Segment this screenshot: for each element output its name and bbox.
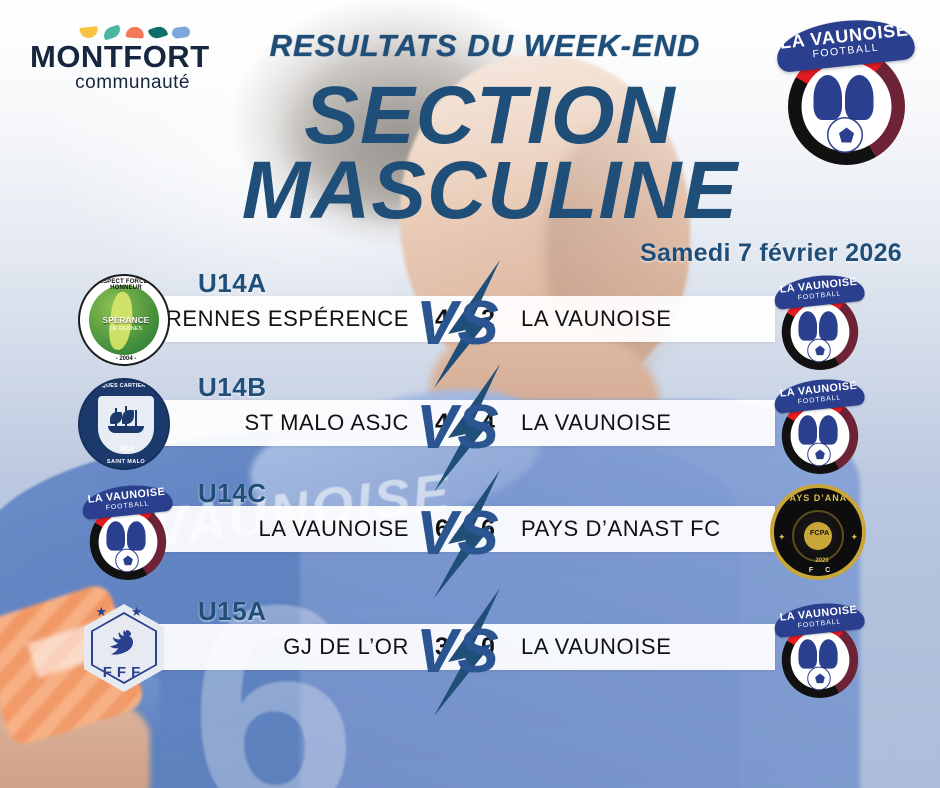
svg-text:VS: VS bbox=[416, 289, 499, 358]
esperance-logo-year: - 2004 - bbox=[80, 356, 170, 362]
anast-star-left-icon: ✦ bbox=[778, 532, 786, 543]
home-team-name: RENNES ESPÉRENCE bbox=[166, 306, 409, 332]
poster-title-line2: MASCULINE bbox=[230, 153, 750, 228]
fff-label: FFF bbox=[78, 664, 170, 681]
poster-subtitle: RESULTATS DU WEEK-END bbox=[255, 28, 715, 64]
logo-shape-coral bbox=[126, 26, 145, 38]
svg-text:VS: VS bbox=[416, 499, 499, 568]
logo-shape-yellow bbox=[79, 26, 98, 39]
la-vaunoise-logo: LA VAUNOISEFOOTBALL bbox=[770, 602, 868, 700]
result-row: ★ ★ FFF U15A GJ DE L’OR 3 0 LA VAUNOISE … bbox=[0, 596, 940, 708]
esperance-logo-sub: DE RENNES bbox=[80, 326, 170, 332]
category-label: U14C bbox=[198, 478, 266, 509]
la-vaunoise-logo: LA VAUNOISEFOOTBALL bbox=[78, 484, 170, 576]
montfort-communaute-logo: MONTFORT communauté bbox=[30, 25, 190, 92]
result-row: LA VAUNOISEFOOTBALL U14C LA VAUNOISE 6 6… bbox=[0, 478, 940, 590]
esperance-logo-top-text: RESPECT FORCE ET HONNEUR bbox=[80, 279, 170, 291]
category-label: U14A bbox=[198, 268, 266, 299]
home-team-name: LA VAUNOISE bbox=[259, 516, 409, 542]
esperance-logo-name: SPÉRANCE bbox=[80, 316, 170, 325]
anast-logo-center-text: FCPA bbox=[810, 530, 829, 537]
away-team-name: LA VAUNOISE bbox=[521, 306, 671, 332]
results-poster: 6 VAUNOISE MONTFORT communauté RESULTATS… bbox=[0, 0, 940, 788]
anast-logo-year: 2020 bbox=[774, 558, 866, 564]
fff-logo: ★ ★ FFF bbox=[78, 602, 170, 694]
esperance-rennes-logo: RESPECT FORCE ET HONNEUR SPÉRANCE DE REN… bbox=[78, 274, 170, 366]
crest-banner: LA VAUNOISE FOOTBALL bbox=[774, 14, 916, 73]
logo-shape-darkteal bbox=[148, 24, 169, 40]
away-team-name: LA VAUNOISE bbox=[521, 634, 671, 660]
svg-text:VS: VS bbox=[416, 617, 499, 686]
vs-icon: VS bbox=[408, 470, 532, 598]
club-crest-header: LA VAUNOISE FOOTBALL bbox=[770, 18, 920, 168]
logo-shape-blue bbox=[171, 25, 190, 38]
home-team-name: ST MALO ASJC bbox=[244, 410, 409, 436]
svg-text:VS: VS bbox=[416, 393, 499, 462]
logo-shape-teal bbox=[102, 24, 123, 40]
fff-stars-icon: ★ ★ bbox=[78, 604, 170, 620]
category-label: U15A bbox=[198, 596, 266, 627]
away-team-name: PAYS D’ANAST FC bbox=[521, 516, 721, 542]
la-vaunoise-logo: LA VAUNOISEFOOTBALL bbox=[770, 274, 868, 372]
montfort-logo-sub: communauté bbox=[30, 73, 190, 92]
away-team-name: LA VAUNOISE bbox=[521, 410, 671, 436]
category-label: U14B bbox=[198, 372, 266, 403]
asjc-logo-top-text: AS JACQUES CARTIER PARAME bbox=[80, 383, 170, 389]
montfort-logo-shapes bbox=[80, 25, 190, 39]
rooster-icon bbox=[106, 628, 142, 658]
asjc-logo-city: SAINT MALO bbox=[80, 459, 170, 465]
poster-title: SECTION MASCULINE bbox=[230, 78, 750, 229]
vs-icon: VS bbox=[408, 588, 532, 716]
match-date: Samedi 7 février 2026 bbox=[640, 239, 902, 268]
anast-star-right-icon: ✦ bbox=[850, 532, 858, 543]
montfort-logo-name: MONTFORT bbox=[30, 41, 190, 72]
crest-football-icon bbox=[827, 117, 863, 153]
anast-logo-fc: F C bbox=[774, 567, 866, 574]
la-vaunoise-logo: LA VAUNOISEFOOTBALL bbox=[770, 378, 868, 476]
st-malo-asjc-logo: AS JACQUES CARTIER PARAME 1912 SAINT MAL… bbox=[78, 378, 170, 470]
asjc-logo-year: 1912 bbox=[80, 446, 170, 453]
result-row: AS JACQUES CARTIER PARAME 1912 SAINT MAL… bbox=[0, 372, 940, 484]
anast-logo-arc-text: PAYS D’ANAST bbox=[774, 493, 866, 503]
poster-title-line1: SECTION bbox=[230, 78, 750, 153]
pays-danast-fc-logo: PAYS D’ANAST FCPA ✦ ✦ 2020 F C bbox=[770, 484, 868, 582]
home-team-name: GJ DE L’OR bbox=[283, 634, 409, 660]
